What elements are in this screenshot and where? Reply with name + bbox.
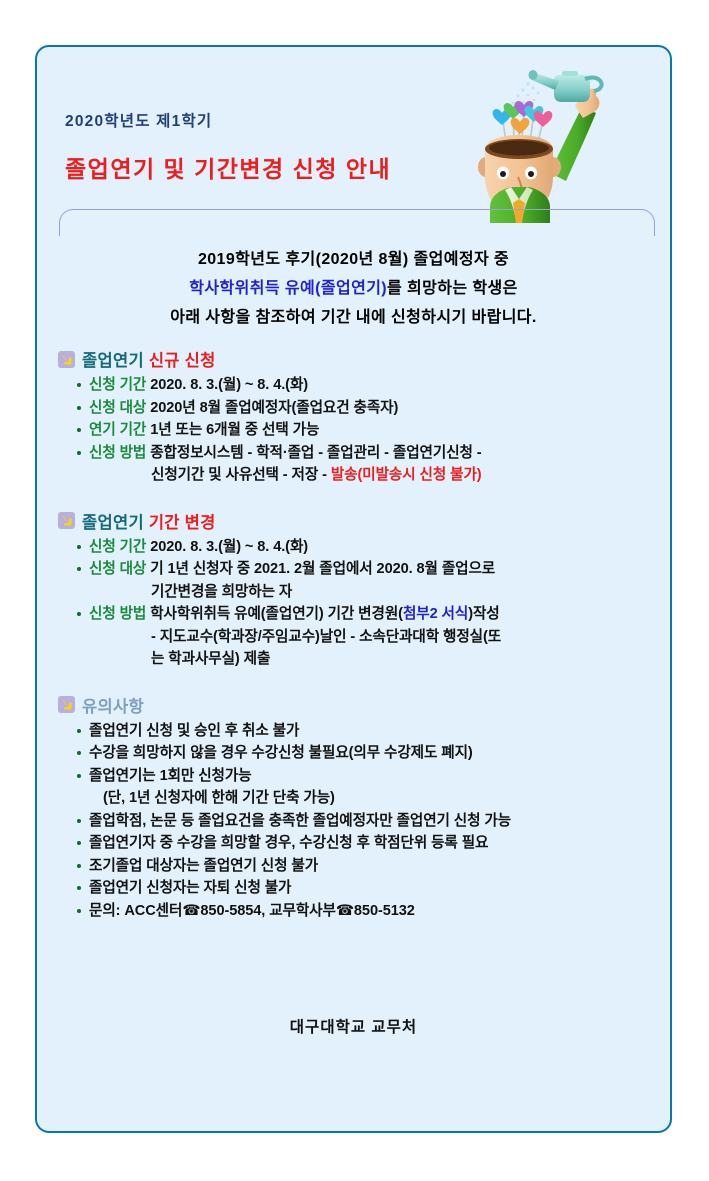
list-item: 수강을 희망하지 않을 경우 수강신청 불필요(의무 수강제도 폐지): [75, 742, 652, 765]
page-title: 졸업연기 및 기간변경 신청 안내: [65, 150, 391, 184]
item-continuation: (단, 1년 신청자에 한해 기간 단축 가능): [89, 787, 652, 810]
list-item: 졸업연기자 중 수강을 희망할 경우, 수강신청 후 학점단위 등록 필요: [75, 832, 652, 855]
item-label: 신청 방법: [89, 445, 146, 461]
list-item: 신청 방법 학사학위취득 유예(졸업연기) 기간 변경원(첨부2 서식)작성 -…: [75, 603, 652, 671]
item-label: 신청 대상: [89, 400, 146, 416]
section-notes: 유의사항 졸업연기 신청 및 승인 후 취소 불가 수강을 희망하지 않을 경우…: [37, 693, 670, 923]
list-item: 조기졸업 대상자는 졸업연기 신청 불가: [75, 855, 652, 878]
item-label: 신청 대상: [89, 561, 146, 577]
section-title-main: 졸업연기: [82, 352, 144, 370]
item-text: 졸업연기 신청 및 승인 후 취소 불가: [89, 723, 299, 739]
list-item-contact: 문의: ACC센터☎850-5854, 교무학사부☎850-5132: [75, 900, 652, 923]
list-item: 신청 기간 2020. 8. 3.(월) ~ 8. 4.(화): [75, 374, 652, 397]
list-item: 졸업학점, 논문 등 졸업요건을 충족한 졸업예정자만 졸업연기 신청 가능: [75, 810, 652, 833]
contact-text: 문의: ACC센터☎850-5854, 교무학사부☎850-5132: [89, 903, 415, 919]
item-text: 1년 또는 6개월 중 선택 가능: [150, 422, 319, 438]
section-title-accent: 신규 신청: [149, 352, 216, 370]
intro-line-3: 아래 사항을 참조하여 기간 내에 신청하시기 바랍니다.: [37, 303, 670, 332]
item-text: 2020년 8월 졸업예정자(졸업요건 충족자): [150, 400, 398, 416]
item-text: 2020. 8. 3.(월) ~ 8. 4.(화): [150, 377, 308, 393]
arrow-down-right-icon: [58, 696, 75, 713]
arrow-down-right-icon: [58, 351, 75, 368]
notice-body: 졸업연기 신규 신청 신청 기간 2020. 8. 3.(월) ~ 8. 4.(…: [37, 347, 670, 926]
section-title: 졸업연기 신규 신청: [82, 347, 216, 371]
intro-text: 2019학년도 후기(2020년 8월) 졸업예정자 중 학사학위취득 유예(졸…: [37, 245, 670, 332]
intro-line-1: 2019학년도 후기(2020년 8월) 졸업예정자 중: [37, 245, 670, 274]
section-item-list: 졸업연기 신청 및 승인 후 취소 불가 수강을 희망하지 않을 경우 수강신청…: [37, 720, 670, 923]
list-item: 신청 대상 기 1년 신청자 중 2021. 2월 졸업에서 2020. 8월 …: [75, 558, 652, 603]
item-label: 신청 기간: [89, 377, 146, 393]
item-continuation-text: 신청기간 및 사유선택 - 저장 -: [151, 467, 331, 483]
item-label: 신청 방법: [89, 606, 146, 622]
list-item: 신청 기간 2020. 8. 3.(월) ~ 8. 4.(화): [75, 536, 652, 559]
item-text: 조기졸업 대상자는 졸업연기 신청 불가: [89, 858, 318, 874]
item-text: 졸업연기는 1회만 신청가능: [89, 768, 252, 784]
intro-highlight: 학사학위취득 유예(졸업연기): [189, 280, 387, 297]
item-text: 종합정보시스템 - 학적·졸업 - 졸업관리 - 졸업연기신청 -: [150, 445, 481, 461]
item-text: 졸업연기 신청자는 자퇴 신청 불가: [89, 880, 291, 896]
section-title: 유의사항: [82, 693, 144, 717]
intro-line-2: 학사학위취득 유예(졸업연기)를 희망하는 학생은: [37, 274, 670, 303]
item-continuation-accent: 발송(미발송시 신청 불가): [331, 467, 482, 483]
section-title-accent: 기간 변경: [149, 514, 216, 532]
intro-line-2-rest: 를 희망하는 학생은: [387, 280, 518, 297]
list-item: 졸업연기는 1회만 신청가능 (단, 1년 신청자에 한해 기간 단축 가능): [75, 765, 652, 810]
header-divider: [59, 209, 655, 236]
item-continuation: 기간변경을 희망하는 자: [89, 581, 652, 604]
item-text: 수강을 희망하지 않을 경우 수강신청 불필요(의무 수강제도 폐지): [89, 745, 473, 761]
item-text: 2020. 8. 3.(월) ~ 8. 4.(화): [150, 539, 308, 555]
list-item: 졸업연기 신청자는 자퇴 신청 불가: [75, 877, 652, 900]
item-continuation: - 지도교수(학과장/주임교수)날인 - 소속단과대학 행정실(또: [89, 626, 652, 649]
section-title: 졸업연기 기간 변경: [82, 509, 216, 533]
issuer-footer: 대구대학교 교무처: [37, 1015, 670, 1037]
item-text: 졸업학점, 논문 등 졸업요건을 충족한 졸업예정자만 졸업연기 신청 가능: [89, 813, 511, 829]
list-item: 연기 기간 1년 또는 6개월 중 선택 가능: [75, 419, 652, 442]
man-watering-ideas-illustration: [466, 51, 656, 223]
semester-label: 2020학년도 제1학기: [65, 109, 212, 131]
section-new-application: 졸업연기 신규 신청 신청 기간 2020. 8. 3.(월) ~ 8. 4.(…: [37, 347, 670, 487]
item-text: 기 1년 신청자 중 2021. 2월 졸업에서 2020. 8월 졸업으로: [150, 561, 495, 577]
notice-header: 2020학년도 제1학기 졸업연기 및 기간변경 신청 안내: [37, 47, 670, 217]
item-text: 졸업연기자 중 수강을 희망할 경우, 수강신청 후 학점단위 등록 필요: [89, 835, 488, 851]
section-item-list: 신청 기간 2020. 8. 3.(월) ~ 8. 4.(화) 신청 대상 기 …: [37, 536, 670, 671]
section-period-change: 졸업연기 기간 변경 신청 기간 2020. 8. 3.(월) ~ 8. 4.(…: [37, 509, 670, 671]
item-continuation-2: 는 학과사무실) 제출: [89, 648, 652, 671]
section-item-list: 신청 기간 2020. 8. 3.(월) ~ 8. 4.(화) 신청 대상 20…: [37, 374, 670, 487]
item-label: 신청 기간: [89, 539, 146, 555]
item-text-post: )작성: [468, 606, 499, 622]
item-text-pre: 학사학위취득 유예(졸업연기) 기간 변경원(: [150, 606, 403, 622]
list-item: 신청 방법 종합정보시스템 - 학적·졸업 - 졸업관리 - 졸업연기신청 - …: [75, 442, 652, 487]
section-title-main: 졸업연기: [82, 514, 144, 532]
notice-card: 2020학년도 제1학기 졸업연기 및 기간변경 신청 안내: [35, 45, 672, 1133]
section-heading: 졸업연기 기간 변경: [37, 509, 670, 533]
item-label: 연기 기간: [89, 422, 146, 438]
list-item: 신청 대상 2020년 8월 졸업예정자(졸업요건 충족자): [75, 397, 652, 420]
section-heading: 유의사항: [37, 693, 670, 717]
section-heading: 졸업연기 신규 신청: [37, 347, 670, 371]
arrow-down-right-icon: [58, 512, 75, 529]
list-item: 졸업연기 신청 및 승인 후 취소 불가: [75, 720, 652, 743]
item-continuation: 신청기간 및 사유선택 - 저장 - 발송(미발송시 신청 불가): [89, 464, 652, 487]
attachment-form-link[interactable]: 첨부2 서식: [403, 606, 468, 622]
